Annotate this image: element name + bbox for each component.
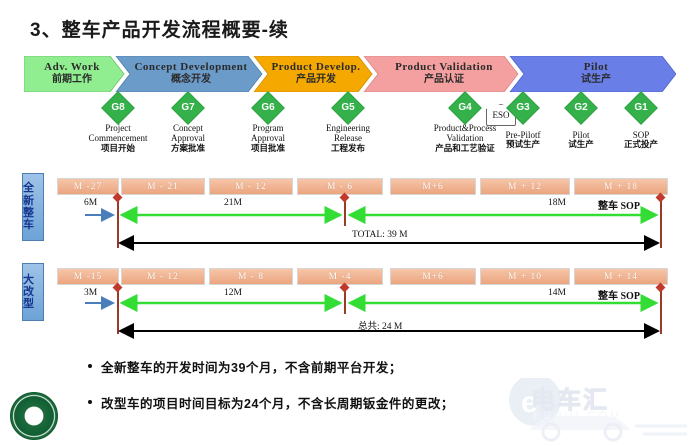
row2-arrows [50,288,670,344]
gate-g7[interactable]: G7 Concept Approval 方案批准 [150,96,226,153]
gate-caption-cn: 试生产 [552,140,610,150]
gate-caption-cn: 方案批准 [150,144,226,154]
watermark: e 电车汇 EVHUI.COM [505,378,695,444]
milestone-box[interactable]: M + 14 [574,268,668,285]
milestone-box[interactable]: M+6 [390,268,476,285]
gate-g2[interactable]: G2 Pilot 试生产 [552,96,610,150]
gate-caption: Concept Approval 方案批准 [150,123,226,153]
milestone-box[interactable]: M -4 [297,268,383,285]
row1-arrows [50,198,670,258]
milestone-box[interactable]: M + 18 [574,178,668,195]
summary-bullets: 全新整车的开发时间为39个月，不含前期平台开发； 改型车的项目时间目标为24个月… [88,357,454,429]
gate-id: G2 [569,96,593,120]
gate-caption: Engineering Release 工程发布 [305,123,391,153]
phase-label-cn: 产品开发 [296,75,336,86]
row1-total-label: TOTAL: 39 M [352,230,408,240]
gate-g1[interactable]: G1 SOP 正式投产 [612,96,670,150]
row-label-text: 大改型 [23,274,43,311]
phase-label-en: Pilot [584,62,609,74]
row1-mid-span-label: 21M [224,198,242,208]
row-label-new-vehicle: 全新整车 [22,173,44,241]
row2-sop-label: 整车 SOP [598,287,640,302]
bullet-item: 全新整车的开发时间为39个月，不含前期平台开发； [88,357,454,376]
row2-total-label: 总共: 24 M [358,318,402,332]
row-label-facelift: 大改型 [22,263,44,321]
milestone-box[interactable]: M + 10 [480,268,570,285]
row2-mid-span-label: 12M [224,288,242,298]
phase-label-cn: 试生产 [581,75,611,86]
watermark-car-icon: e [505,378,695,444]
phase-label-cn: 前期工作 [52,75,92,86]
gate-caption-cn: 正式投产 [612,140,670,150]
gate-id: G5 [336,96,360,120]
gate-id: G7 [176,96,200,120]
gate-diamond-icon: G4 [448,91,482,125]
phase-concept-development[interactable]: Concept Development 概念开发 [124,56,258,92]
bullet-item: 改型车的项目时间目标为24个月，不含长周期钣金件的更改； [88,393,454,412]
milestone-box[interactable]: M + 12 [480,178,570,195]
milestone-box[interactable]: M - 21 [121,178,205,195]
bullet-text: 全新整车的开发时间为39个月，不含前期平台开发； [101,357,402,376]
watermark-brand-en: EVHUI.COM [533,410,622,422]
gate-id: G8 [106,96,130,120]
phase-label-en: Concept Development [134,62,247,74]
gate-g8[interactable]: G8 Project Commencement 项目开始 [78,96,158,153]
gate-caption: Project Commencement 项目开始 [78,123,158,153]
gate-caption: Pilot 试生产 [552,130,610,150]
phase-label-cn: 概念开发 [171,75,211,86]
gate-id: G1 [629,96,653,120]
bullet-dot-icon [88,364,92,368]
gate-diamond-icon: G5 [331,91,365,125]
page-title: 3、整车产品开发流程概要-续 [30,15,289,42]
phase-product-develop[interactable]: Product Develop. 产品开发 [264,56,368,92]
milestone-box[interactable]: M -27 [57,178,119,195]
gate-diamond-icon: G2 [564,91,598,125]
slide-canvas: 3、整车产品开发流程概要-续 Adv. Work 前期工作 Concept De… [0,0,700,447]
gate-diamond-icon: G6 [251,91,285,125]
gate-id: G6 [256,96,280,120]
gate-g3[interactable]: G3 Pre-Pilotf 预试生产 [488,96,558,150]
gate-diamond-icon: G7 [171,91,205,125]
gate-caption-cn: 项目批准 [230,144,306,154]
gate-id: G3 [511,96,535,120]
milestone-box[interactable]: M+6 [390,178,476,195]
phase-label-en: Product Validation [395,62,493,74]
row-label-text: 全新整车 [23,182,43,231]
row1-post-span-label: 18M [548,198,566,208]
gate-caption-cn: 项目开始 [78,144,158,154]
gate-diamond-icon: G8 [101,91,135,125]
phase-label-en: Adv. Work [44,62,100,74]
row1-pre-span-label: 6M [84,198,97,208]
gate-diamond-icon: G1 [624,91,658,125]
phase-label-cn: 产品认证 [424,75,464,86]
bullet-dot-icon [88,400,92,404]
gate-caption: Program Approval 项目批准 [230,123,306,153]
row2-pre-span-label: 3M [84,288,97,298]
gate-g5[interactable]: G5 Engineering Release 工程发布 [305,96,391,153]
row2-post-span-label: 14M [548,288,566,298]
phase-label-en: Product Develop. [271,62,360,74]
milestone-box[interactable]: M - 8 [209,268,293,285]
phase-adv-work[interactable]: Adv. Work 前期工作 [24,56,120,92]
gate-diamond-icon: G3 [506,91,540,125]
gate-id: G4 [453,96,477,120]
phase-product-validation[interactable]: Product Validation 产品认证 [374,56,514,92]
phase-pilot[interactable]: Pilot 试生产 [520,56,672,92]
gate-caption: SOP 正式投产 [612,130,670,150]
row1-sop-label: 整车 SOP [598,197,640,212]
svg-text:e: e [521,386,538,419]
gate-caption-cn: 工程发布 [305,144,391,154]
milestone-box[interactable]: M - 6 [297,178,383,195]
milestone-box[interactable]: M - 12 [209,178,293,195]
gate-caption: Pre-Pilotf 预试生产 [488,130,558,150]
bullet-text: 改型车的项目时间目标为24个月，不含长周期钣金件的更改； [101,393,454,412]
watermark-brand-cn: 电车汇 [531,380,609,415]
milestone-box[interactable]: M -15 [57,268,119,285]
company-logo [10,392,58,440]
phase-banner: Adv. Work 前期工作 Concept Development 概念开发 … [24,56,676,92]
gate-caption-cn: 预试生产 [488,140,558,150]
milestone-box[interactable]: M - 12 [121,268,205,285]
gate-g6[interactable]: G6 Program Approval 项目批准 [230,96,306,153]
